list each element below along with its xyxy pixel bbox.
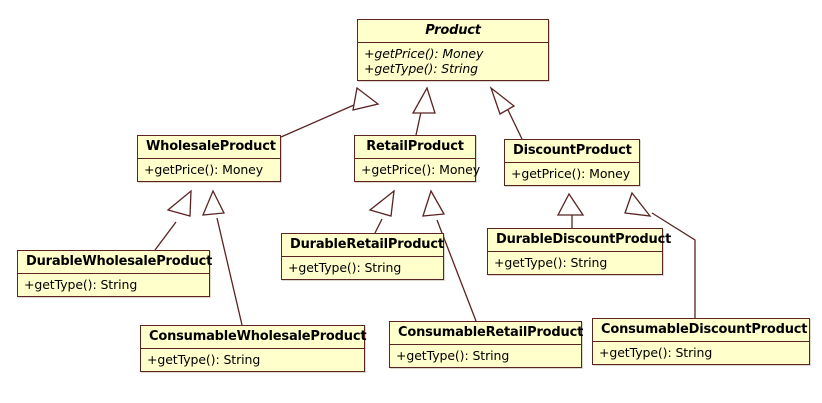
class-box-consumablediscountproduct[interactable]: ConsumableDiscountProduct +getType(): St…	[592, 318, 810, 365]
class-operations-durablewholesaleproduct: +getType(): String	[18, 274, 209, 296]
edge-wholesaleproduct-to-product	[281, 88, 378, 137]
edge-durablediscountproduct-to-discountproduct	[558, 194, 583, 228]
class-box-consumablewholesaleproduct[interactable]: ConsumableWholesaleProduct +getType(): S…	[140, 325, 365, 372]
class-operations-wholesaleproduct: +getPrice(): Money	[138, 159, 280, 181]
class-box-durableretailproduct[interactable]: DurableRetailProduct +getType(): String	[281, 233, 444, 280]
class-name-product: Product	[358, 20, 548, 43]
class-box-product[interactable]: Product +getPrice(): Money +getType(): S…	[357, 19, 549, 81]
class-box-wholesaleproduct[interactable]: WholesaleProduct +getPrice(): Money	[137, 135, 281, 182]
operation: +getPrice(): Money	[511, 166, 633, 181]
class-operations-discountproduct: +getPrice(): Money	[505, 163, 639, 185]
operation: +getPrice(): Money	[144, 162, 274, 177]
class-name-durableretailproduct: DurableRetailProduct	[282, 234, 443, 257]
operation: +getType(): String	[396, 348, 575, 363]
operation: +getType(): String	[599, 345, 803, 360]
class-operations-durablediscountproduct: +getType(): String	[488, 252, 662, 274]
class-operations-retailproduct: +getPrice(): Money	[355, 159, 475, 181]
class-name-discountproduct: DiscountProduct	[505, 140, 639, 163]
class-operations-consumablewholesaleproduct: +getType(): String	[141, 349, 364, 371]
edge-durableretailproduct-to-retailproduct	[370, 191, 394, 233]
class-name-retailproduct: RetailProduct	[355, 136, 475, 159]
class-operations-consumableretailproduct: +getType(): String	[390, 345, 581, 367]
edge-discountproduct-to-product	[491, 88, 522, 139]
class-box-retailproduct[interactable]: RetailProduct +getPrice(): Money	[354, 135, 476, 182]
class-name-durablewholesaleproduct: DurableWholesaleProduct	[18, 251, 209, 274]
class-name-wholesaleproduct: WholesaleProduct	[138, 136, 280, 159]
class-operations-product: +getPrice(): Money +getType(): String	[358, 43, 548, 80]
class-box-consumableretailproduct[interactable]: ConsumableRetailProduct +getType(): Stri…	[389, 321, 582, 368]
class-name-durablediscountproduct: DurableDiscountProduct	[488, 229, 662, 252]
operation: +getType(): String	[147, 352, 358, 367]
class-name-consumablediscountproduct: ConsumableDiscountProduct	[593, 319, 809, 342]
operation: +getPrice(): Money	[364, 46, 542, 61]
class-box-durablewholesaleproduct[interactable]: DurableWholesaleProduct +getType(): Stri…	[17, 250, 210, 297]
operation: +getType(): String	[494, 255, 656, 270]
edge-durablewholesaleproduct-to-wholesaleproduct	[155, 191, 191, 250]
class-operations-consumablediscountproduct: +getType(): String	[593, 342, 809, 364]
class-box-discountproduct[interactable]: DiscountProduct +getPrice(): Money	[504, 139, 640, 186]
uml-class-diagram: Product +getPrice(): Money +getType(): S…	[0, 0, 822, 403]
edge-retailproduct-to-product	[413, 88, 435, 135]
operation: +getPrice(): Money	[361, 162, 469, 177]
operation: +getType(): String	[24, 277, 203, 292]
operation: +getType(): String	[364, 61, 542, 76]
operation: +getType(): String	[288, 260, 437, 275]
class-box-durablediscountproduct[interactable]: DurableDiscountProduct +getType(): Strin…	[487, 228, 663, 275]
class-operations-durableretailproduct: +getType(): String	[282, 257, 443, 279]
class-name-consumablewholesaleproduct: ConsumableWholesaleProduct	[141, 326, 364, 349]
class-name-consumableretailproduct: ConsumableRetailProduct	[390, 322, 581, 345]
